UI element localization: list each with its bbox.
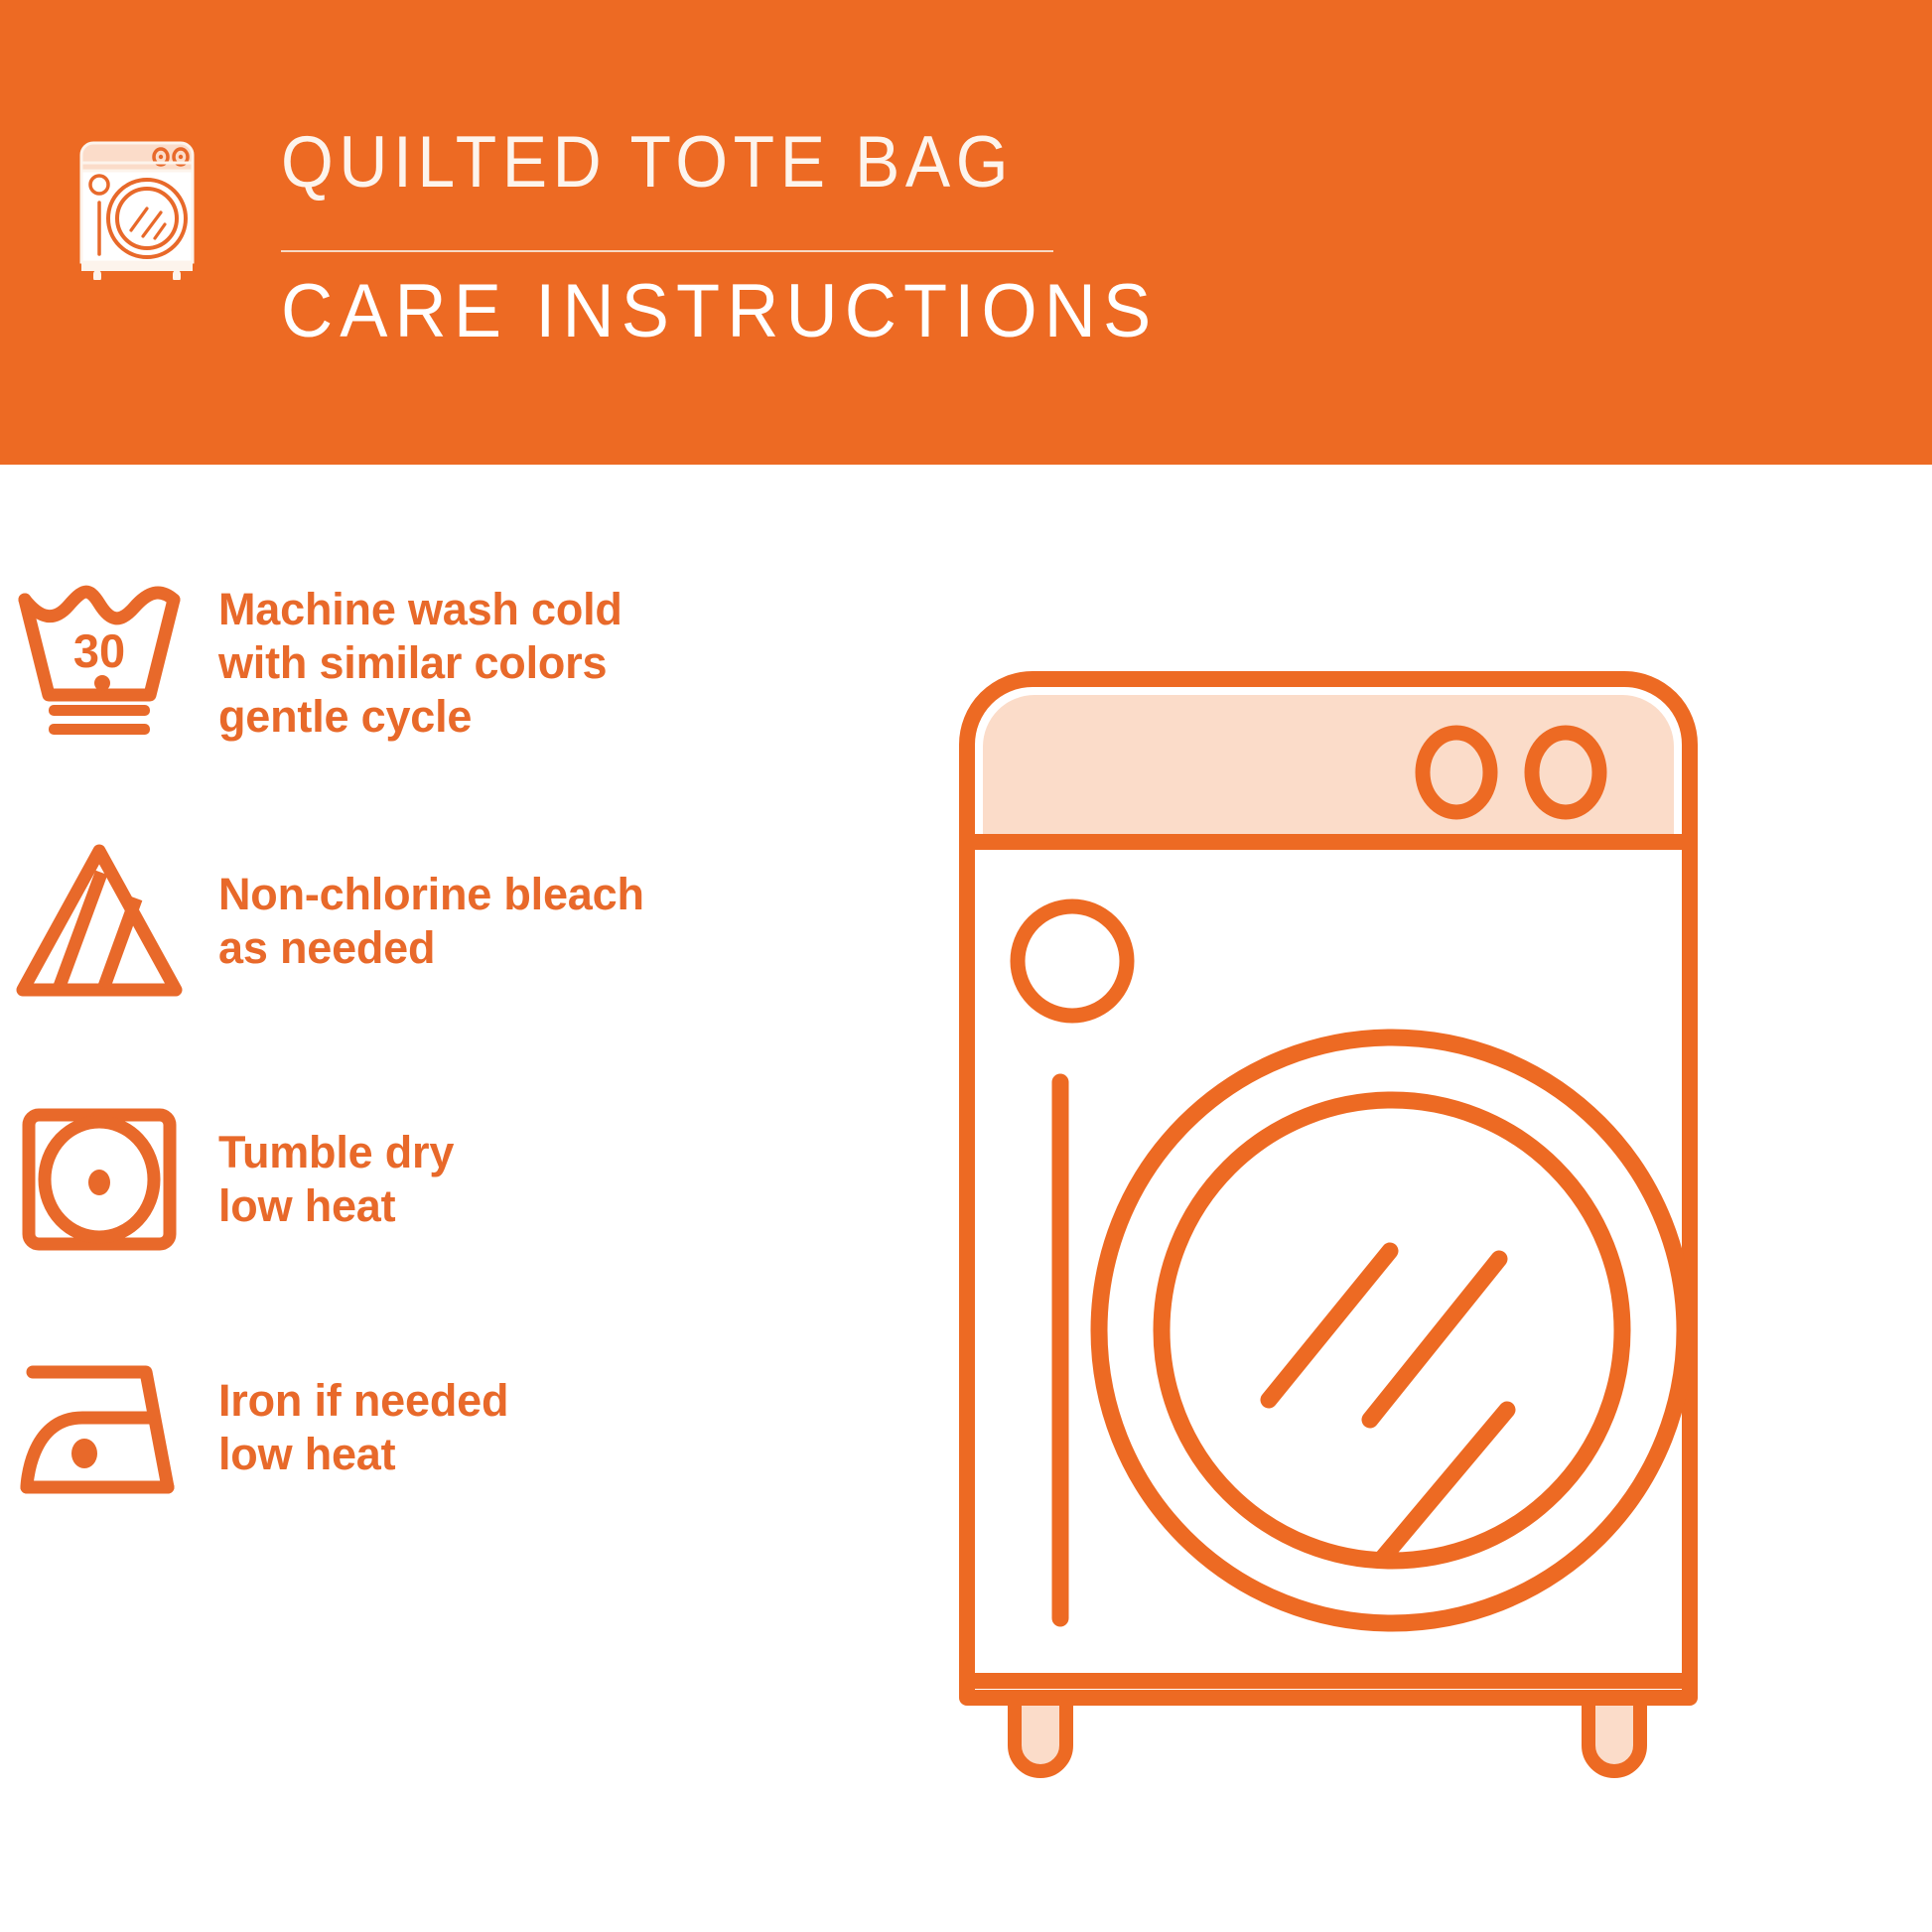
care-row-bleach: Non-chlorine bleach as needed xyxy=(0,822,854,1021)
care-line: Tumble dry xyxy=(218,1126,454,1179)
bleach-triangle-icon xyxy=(0,839,199,1004)
front-load-washing-machine-illustration xyxy=(953,616,1896,1886)
care-instruction-list: 30 Machine wash cold with similar colors… xyxy=(0,465,943,1932)
care-text-tumble-dry: Tumble dry low heat xyxy=(218,1126,454,1233)
care-line: with similar colors xyxy=(218,636,622,690)
care-row-machine-wash: 30 Machine wash cold with similar colors… xyxy=(0,564,854,762)
washing-machine-icon xyxy=(71,133,210,280)
knob-right xyxy=(1532,733,1599,812)
care-text-machine-wash: Machine wash cold with similar colors ge… xyxy=(218,583,622,744)
page-title: QUILTED TOTE BAG xyxy=(281,121,1020,205)
care-line: Machine wash cold xyxy=(218,583,622,636)
care-row-iron: Iron if needed low heat xyxy=(0,1328,854,1527)
care-text-bleach: Non-chlorine bleach as needed xyxy=(218,868,644,975)
wash-temperature-value: 30 xyxy=(73,624,125,677)
care-line: Non-chlorine bleach xyxy=(218,868,644,921)
tumble-dry-icon xyxy=(0,1097,199,1262)
iron-icon xyxy=(0,1348,199,1507)
wash-tub-30-icon: 30 xyxy=(0,584,199,743)
care-line: Iron if needed xyxy=(218,1374,508,1428)
page-subtitle: CARE INSTRUCTIONS xyxy=(281,269,1158,354)
care-line: as needed xyxy=(218,921,644,975)
care-text-iron: Iron if needed low heat xyxy=(218,1374,508,1481)
header-banner: QUILTED TOTE BAG CARE INSTRUCTIONS xyxy=(0,0,1932,465)
care-line: low heat xyxy=(218,1428,508,1481)
knob-left xyxy=(1423,733,1490,812)
header-title-block: QUILTED TOTE BAG xyxy=(281,121,1075,205)
care-line: low heat xyxy=(218,1179,454,1233)
care-line: gentle cycle xyxy=(218,690,622,744)
header-divider xyxy=(281,250,1053,252)
care-row-tumble-dry: Tumble dry low heat xyxy=(0,1080,854,1279)
